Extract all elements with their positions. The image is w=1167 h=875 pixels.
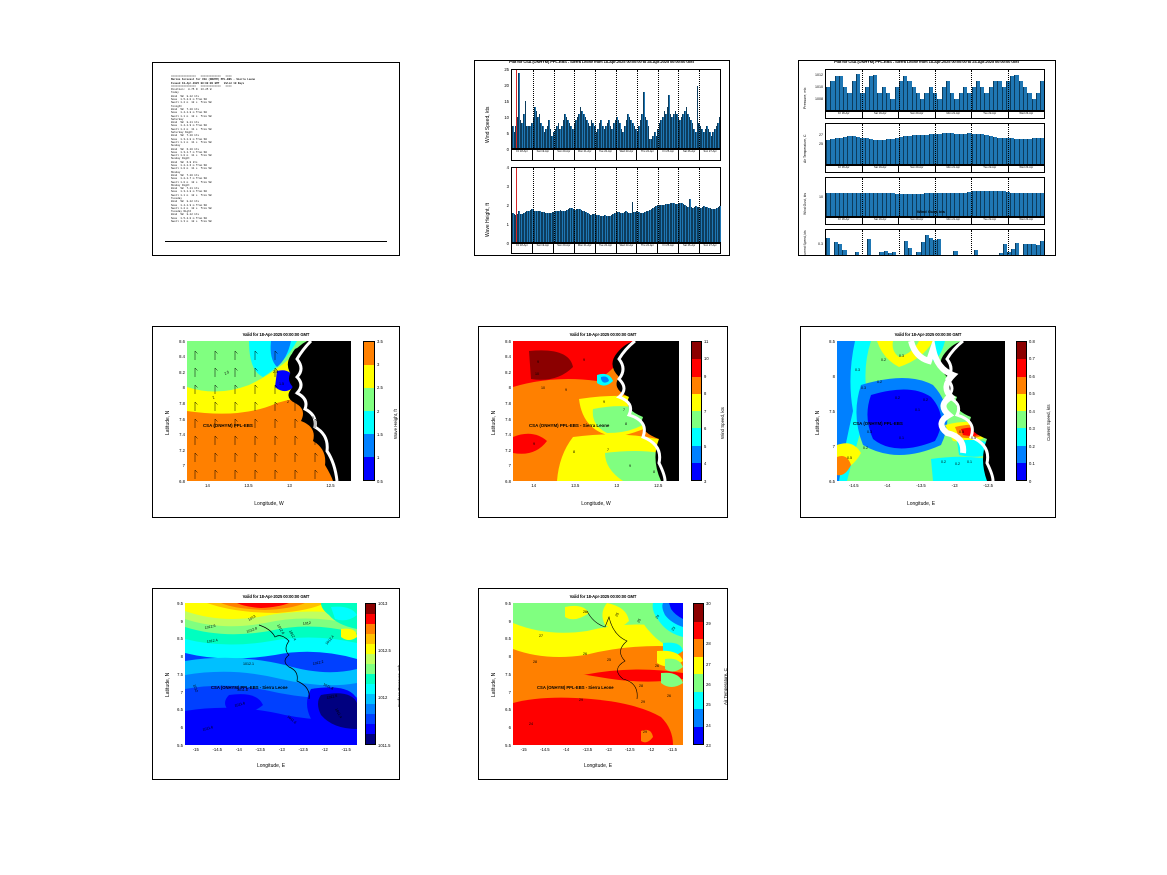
day-label: Tue 22-Apr	[972, 218, 1009, 224]
colorbar-segment	[694, 657, 703, 675]
gridline	[971, 124, 972, 164]
colorbar-segment	[366, 694, 375, 704]
svg-text:0.1: 0.1	[899, 436, 904, 440]
temperature-ylabel: Air Temperature, C	[803, 135, 807, 163]
colorbar-tick: 6	[704, 426, 706, 431]
svg-text:0.3: 0.3	[867, 430, 872, 434]
pressure-map-colorbar-label: Surface Pressure, mb	[397, 665, 400, 707]
colorbar-segment	[1017, 446, 1026, 463]
map-x-tick: 12.5	[648, 483, 668, 488]
svg-text:0.2: 0.2	[923, 398, 928, 402]
wind-map-title: Valid for 18-Apr-2025 00:00:00 GMT	[479, 332, 727, 337]
colorbar-tick: 1011.5	[378, 743, 391, 748]
current-speed-map-panel: Valid for 18-Apr-2025 00:00:00 GMT	[800, 326, 1056, 518]
y-tick: 27	[803, 133, 823, 137]
map-x-tick: -12.5	[293, 747, 313, 752]
svg-text:24: 24	[529, 722, 533, 726]
colorbar-segment	[1017, 342, 1026, 359]
map-x-tick: -11.5	[336, 747, 356, 752]
current-map-svg: 0.3 0.2 0.3 0.3 0.2 0.2 0.2 0.1 0.1 0.3 …	[837, 341, 1005, 481]
day-label: Fri 18-Apr	[512, 244, 533, 253]
gridline	[658, 168, 659, 242]
pressure-map-site-annotation: CSA (ONHYM) PPL-EBS - Sierra Leone	[211, 685, 288, 690]
temperature-axes	[825, 123, 1045, 165]
gridline	[899, 124, 900, 164]
svg-text:0.1: 0.1	[967, 460, 972, 464]
wind-map-site-annotation: CSA (ONHYM) PPL-EBS - Sierra Leone	[529, 423, 609, 428]
day-label: Wed 23-Apr	[1009, 218, 1045, 224]
map-y-tick: 8	[491, 654, 511, 659]
map-x-tick: 14	[198, 483, 218, 488]
gridline	[862, 230, 863, 256]
svg-text:0.3: 0.3	[855, 368, 860, 372]
map-y-tick: 9.5	[163, 601, 183, 606]
colorbar-segment	[692, 463, 701, 480]
colorbar-segment	[1017, 428, 1026, 445]
day-label: Sat 19-Apr	[533, 244, 554, 253]
day-label: Sat 19-Apr	[533, 150, 554, 160]
day-label: Tue 22-Apr	[972, 166, 1009, 172]
svg-text:8: 8	[653, 470, 655, 474]
svg-text:9: 9	[583, 358, 585, 362]
colorbar-segment	[366, 674, 375, 684]
colorbar-tick: 0.6	[1029, 374, 1035, 379]
report-divider	[165, 241, 387, 242]
svg-text:0.2: 0.2	[941, 460, 946, 464]
map-y-tick: 7	[163, 690, 183, 695]
gridline	[1008, 230, 1009, 256]
colorbar-segment	[366, 684, 375, 694]
pressure-axes	[825, 69, 1045, 111]
map-x-tick: -13	[945, 483, 965, 488]
day-label: Tue 22-Apr	[596, 150, 617, 160]
y-tick: 0.3	[803, 242, 823, 246]
svg-text:10: 10	[535, 372, 539, 376]
gridline	[1008, 124, 1009, 164]
gridline	[554, 70, 555, 148]
map-x-tick: -13	[599, 747, 619, 752]
bar	[953, 251, 957, 256]
map-x-tick: -12	[315, 747, 335, 752]
forecast-text-body: ================ ============= ====Marin…	[171, 75, 391, 223]
colorbar-tick: 2	[377, 409, 379, 414]
colorbar-segment	[692, 377, 701, 394]
current-map-ylabel: Latitude, N	[815, 411, 821, 435]
day-label: Wed 23-Apr	[1009, 166, 1045, 172]
day-label: Sun 20-Apr	[899, 166, 936, 172]
svg-text:7: 7	[607, 448, 609, 452]
gridline	[595, 168, 596, 242]
svg-text:0.5: 0.5	[847, 456, 852, 460]
map-y-tick: 7.6	[491, 417, 511, 422]
bar	[855, 252, 859, 256]
wind-speed-day-strip: Fri 18-AprSat 19-AprSun 20-AprMon 21-Apr…	[511, 149, 721, 161]
wind-map-xlabel: Longitude, W	[513, 501, 679, 507]
svg-text:0.2: 0.2	[877, 380, 882, 384]
svg-text:0.5: 0.5	[959, 430, 964, 434]
gridline	[971, 230, 972, 256]
map-x-tick: -14	[877, 483, 897, 488]
temperature-day-strip: Fri 18-AprSat 19-AprSun 20-AprMon 21-Apr…	[825, 165, 1045, 173]
day-label: Sun 20-Apr	[899, 112, 936, 118]
colorbar-tick: 0.5	[1029, 391, 1035, 396]
svg-text:26: 26	[583, 652, 587, 656]
svg-text:27: 27	[539, 634, 543, 638]
gridline	[533, 70, 534, 148]
wave-height-axes	[511, 167, 721, 243]
map-y-tick: 8.6	[491, 339, 511, 344]
map-y-tick: 9.5	[491, 601, 511, 606]
colorbar-tick: 8	[704, 391, 706, 396]
map-y-tick: 6.8	[491, 479, 511, 484]
colorbar-segment	[694, 674, 703, 692]
colorbar-tick: 29	[706, 621, 711, 626]
gridline	[616, 168, 617, 242]
wave-map-canvas: 2.5 2 2.5 1.5 2.5 2	[187, 341, 351, 481]
colorbar-segment	[692, 359, 701, 376]
temp-map-canvas: 27 26 25 25 24 23 28 26 25 26 28 26 29 2…	[513, 603, 683, 745]
wind-speed-axes	[511, 69, 721, 149]
bar	[912, 255, 916, 256]
svg-text:28: 28	[533, 660, 537, 664]
gridline	[637, 168, 638, 242]
map-y-tick: 8.2	[491, 370, 511, 375]
gridline	[899, 178, 900, 216]
map-x-tick: -14.5	[535, 747, 555, 752]
current-map-title: Valid for 18-Apr-2025 00:00:00 GMT	[801, 332, 1055, 337]
colorbar-segment	[1017, 359, 1026, 376]
day-label: Thu 24-Apr	[637, 150, 658, 160]
gridline	[595, 70, 596, 148]
map-y-tick: 7.2	[165, 448, 185, 453]
map-x-tick: -12.5	[978, 483, 998, 488]
colorbar-segment	[364, 434, 374, 457]
gridline	[533, 168, 534, 242]
map-y-tick: 7.5	[815, 409, 835, 414]
gridline	[971, 70, 972, 110]
svg-text:10: 10	[541, 386, 545, 390]
pressure-map-svg: 1012.6 1012.4 1013 1012.8 1012.6 1012.4 …	[185, 603, 357, 745]
map-y-tick: 8	[165, 385, 185, 390]
day-label: Mon 21-Apr	[936, 112, 973, 118]
day-label: Tue 22-Apr	[972, 112, 1009, 118]
gridline	[1008, 178, 1009, 216]
map-y-tick: 7.5	[491, 672, 511, 677]
pressure-map-colorbar	[365, 603, 376, 745]
gridline	[862, 70, 863, 110]
colorbar-tick: 0.1	[1029, 461, 1035, 466]
temp-map-title: Valid for 18-Apr-2025 00:00:00 GMT	[479, 594, 727, 599]
map-y-tick: 8.5	[163, 636, 183, 641]
svg-text:9: 9	[603, 400, 605, 404]
y-tick: 1	[489, 222, 509, 227]
colorbar-segment	[694, 727, 703, 745]
wind-map-canvas: 9 10 10 9 9 9 7 8 8 7 8 9 9 8	[513, 341, 679, 481]
svg-text:26: 26	[655, 664, 659, 668]
svg-text:8: 8	[625, 422, 627, 426]
wind-wave-timeseries-panel: Plot for CSA (ONHYM) PPL-EBS - Sierra Le…	[474, 60, 730, 256]
bar	[892, 252, 896, 256]
wind-wave-title: Plot for CSA (ONHYM) PPL-EBS - Sierra Le…	[475, 60, 729, 64]
map-y-tick: 8.4	[165, 354, 185, 359]
map-x-tick: -13	[272, 747, 292, 752]
bar	[719, 117, 721, 148]
colorbar-tick: 1.5	[377, 432, 383, 437]
colorbar-segment	[366, 644, 375, 654]
svg-text:0.5: 0.5	[971, 436, 976, 440]
map-y-tick: 6.5	[491, 707, 511, 712]
report-page: ================ ============= ====Marin…	[0, 0, 1167, 875]
bar	[1040, 193, 1044, 216]
colorbar-segment	[366, 704, 375, 714]
map-x-tick: 13	[607, 483, 627, 488]
gridline	[899, 70, 900, 110]
current-axes	[825, 229, 1045, 256]
svg-text:0.2: 0.2	[881, 358, 886, 362]
y-tick: 1010	[803, 85, 823, 89]
day-label: Fri 18-Apr	[826, 112, 863, 118]
gridline	[862, 124, 863, 164]
air-temperature-map-panel: Valid for 18-Apr-2025 00:00:00 GMT	[478, 588, 728, 780]
gust-day-strip: Fri 18-AprSat 19-AprSun 20-AprMon 21-Apr…	[825, 217, 1045, 225]
colorbar-segment	[366, 734, 375, 744]
colorbar-tick: 27	[706, 662, 711, 667]
colorbar-segment	[1017, 463, 1026, 480]
colorbar-segment	[1017, 411, 1026, 428]
svg-text:29: 29	[579, 698, 583, 702]
day-label: Sat 26-Apr	[679, 244, 700, 253]
map-x-tick: 12.5	[321, 483, 341, 488]
current-map-colorbar-label: Current Speed, kts	[1046, 404, 1051, 441]
gust-annotation: Wind Gust, kts	[917, 209, 945, 214]
y-tick: 3	[489, 184, 509, 189]
map-x-tick: 14	[524, 483, 544, 488]
map-y-tick: 8	[163, 654, 183, 659]
map-y-tick: 6	[163, 725, 183, 730]
map-x-tick: -13.5	[250, 747, 270, 752]
y-tick: 10	[489, 115, 509, 120]
wave-height-day-strip: Fri 18-AprSat 19-AprSun 20-AprMon 21-Apr…	[511, 243, 721, 254]
day-label: Tue 22-Apr	[596, 244, 617, 253]
colorbar-tick: 0.7	[1029, 356, 1035, 361]
colorbar-tick: 9	[704, 374, 706, 379]
colorbar-tick: 1	[377, 455, 379, 460]
svg-text:0.1: 0.1	[915, 408, 920, 412]
wind-now-marker	[516, 70, 517, 148]
y-tick: 10	[803, 195, 823, 199]
map-y-tick: 8	[815, 374, 835, 379]
gridline	[899, 230, 900, 256]
colorbar-tick: 10	[704, 356, 709, 361]
colorbar-segment	[366, 664, 375, 674]
wave-map-colorbar-label: Wave Height, ft	[393, 409, 398, 439]
wave-height-ylabel: Wave Height, ft	[485, 203, 491, 237]
temp-map-xlabel: Longitude, E	[513, 763, 683, 769]
map-y-tick: 8.4	[491, 354, 511, 359]
svg-text:1.5: 1.5	[279, 382, 284, 386]
svg-text:8: 8	[645, 422, 647, 426]
map-x-tick: -13.5	[577, 747, 597, 752]
report-line: Swell 1.3 m 12 s from SW	[171, 220, 391, 223]
colorbar-tick: 1012	[378, 695, 387, 700]
map-y-tick: 9	[163, 619, 183, 624]
map-y-tick: 5.5	[491, 743, 511, 748]
colorbar-segment	[1017, 394, 1026, 411]
map-y-tick: 7.5	[163, 672, 183, 677]
colorbar-segment	[366, 714, 375, 724]
wave-height-map-panel: Valid for 18-Apr-2025 00:00:00 GMT 2.5 2	[152, 326, 400, 518]
day-label: Wed 23-Apr	[617, 150, 638, 160]
wave-map-xlabel: Longitude, W	[187, 501, 351, 507]
bar	[1015, 243, 1019, 256]
map-y-tick: 6.5	[815, 479, 835, 484]
colorbar-tick: 4	[704, 461, 706, 466]
map-y-tick: 8	[491, 385, 511, 390]
gridline	[935, 230, 936, 256]
colorbar-segment	[694, 709, 703, 727]
map-y-tick: 8.6	[165, 339, 185, 344]
colorbar-tick: 11	[704, 339, 708, 344]
bar	[937, 239, 941, 256]
y-tick: 25	[489, 67, 509, 72]
colorbar-tick: 23	[706, 743, 711, 748]
colorbar-segment	[366, 624, 375, 634]
svg-text:2.5: 2.5	[309, 416, 314, 420]
svg-text:26: 26	[667, 694, 671, 698]
map-x-tick: -12	[641, 747, 661, 752]
colorbar-tick: 0.3	[1029, 426, 1035, 431]
map-x-tick: -14	[229, 747, 249, 752]
map-y-tick: 7	[815, 444, 835, 449]
map-y-tick: 7.2	[491, 448, 511, 453]
svg-text:29: 29	[643, 730, 647, 734]
gridline	[678, 70, 679, 148]
day-label: Sun 20-Apr	[899, 218, 936, 224]
day-label: Fri 18-Apr	[826, 166, 863, 172]
map-y-tick: 7.8	[165, 401, 185, 406]
colorbar-segment	[366, 614, 375, 624]
colorbar-tick: 1012.5	[378, 648, 391, 653]
map-x-tick: -14.5	[844, 483, 864, 488]
map-y-tick: 7	[491, 463, 511, 468]
bar	[867, 239, 871, 256]
colorbar-segment	[1017, 377, 1026, 394]
gridline	[554, 168, 555, 242]
svg-text:0.2: 0.2	[863, 446, 868, 450]
day-label: Wed 23-Apr	[617, 244, 638, 253]
wave-map-svg: 2.5 2 2.5 1.5 2.5 2	[187, 341, 351, 481]
day-label: Mon 21-Apr	[575, 150, 596, 160]
temp-map-colorbar	[693, 603, 704, 745]
colorbar-segment	[364, 365, 374, 388]
svg-text:7: 7	[623, 408, 625, 412]
svg-text:9: 9	[565, 388, 567, 392]
pressure-day-strip: Fri 18-AprSat 19-AprSun 20-AprMon 21-Apr…	[825, 111, 1045, 119]
pressure-map-canvas: 1012.6 1012.4 1013 1012.8 1012.6 1012.4 …	[185, 603, 357, 745]
y-tick: 25	[803, 142, 823, 146]
svg-text:26: 26	[583, 610, 587, 614]
colorbar-segment	[366, 654, 375, 664]
svg-text:25: 25	[607, 658, 611, 662]
map-x-tick: -15	[514, 747, 534, 752]
pressure-map-xlabel: Longitude, E	[185, 763, 357, 769]
bar	[1040, 241, 1044, 256]
day-label: Sat 19-Apr	[863, 112, 900, 118]
colorbar-segment	[366, 634, 375, 644]
map-x-tick: -14	[556, 747, 576, 752]
colorbar-tick: 30	[706, 601, 711, 606]
colorbar-tick: 3.5	[377, 339, 383, 344]
map-y-tick: 7.8	[491, 401, 511, 406]
colorbar-segment	[694, 639, 703, 657]
colorbar-tick: 0	[1029, 479, 1031, 484]
day-label: Thu 24-Apr	[637, 244, 658, 253]
map-y-tick: 7	[165, 463, 185, 468]
bar	[974, 250, 978, 256]
temp-map-colorbar-label: Air Temperature, C	[723, 668, 728, 705]
y-tick: 2	[489, 203, 509, 208]
svg-text:1012.1: 1012.1	[243, 662, 254, 666]
map-y-tick: 6.5	[163, 707, 183, 712]
map-y-tick: 8.5	[815, 339, 835, 344]
svg-text:2: 2	[287, 400, 289, 404]
day-label: Sun 20-Apr	[554, 150, 575, 160]
wind-map-colorbar	[691, 341, 702, 481]
wave-now-marker	[516, 168, 517, 242]
wave-map-title: Valid for 18-Apr-2025 00:00:00 GMT	[153, 332, 399, 337]
current-map-site-annotation: CSA (ONHYM) PPL-EBS	[853, 421, 903, 426]
map-x-tick: 13	[280, 483, 300, 488]
map-y-tick: 8.5	[491, 636, 511, 641]
colorbar-segment	[694, 622, 703, 640]
current-map-xlabel: Longitude, E	[837, 501, 1005, 507]
svg-text:0.3: 0.3	[861, 386, 866, 390]
gridline	[935, 124, 936, 164]
gridline	[935, 70, 936, 110]
bar	[847, 255, 851, 256]
bar	[842, 250, 846, 256]
day-label: Sun 20-Apr	[554, 244, 575, 253]
gridline	[574, 168, 575, 242]
map-y-tick: 7.4	[491, 432, 511, 437]
colorbar-segment	[692, 446, 701, 463]
svg-text:28: 28	[639, 684, 643, 688]
surface-pressure-map-panel: Valid for 18-Apr-2025 00:00:00 GMT	[152, 588, 400, 780]
y-tick: 0	[489, 241, 509, 246]
day-label: Sun 27-Apr	[700, 244, 720, 253]
map-y-tick: 7	[491, 690, 511, 695]
gridline	[1008, 70, 1009, 110]
wave-map-colorbar	[363, 341, 375, 481]
gridline	[699, 70, 700, 148]
map-x-tick: -15	[186, 747, 206, 752]
day-label: Sat 19-Apr	[863, 166, 900, 172]
svg-text:8: 8	[573, 450, 575, 454]
wind-speed-map-panel: Valid for 18-Apr-2025 00:00:00 GMT 9 10	[478, 326, 728, 518]
temp-map-svg: 27 26 25 25 24 23 28 26 25 26 28 26 29 2…	[513, 603, 683, 745]
colorbar-tick: 0.8	[1029, 339, 1035, 344]
wind-map-colorbar-label: Wind Speed, kts	[720, 407, 725, 439]
gridline	[678, 168, 679, 242]
y-tick: 15	[489, 99, 509, 104]
map-x-tick: 13.5	[565, 483, 585, 488]
colorbar-segment	[366, 604, 375, 614]
map-x-tick: 13.5	[239, 483, 259, 488]
svg-text:9: 9	[537, 360, 539, 364]
pressure-map-title: Valid for 18-Apr-2025 00:00:00 GMT	[153, 594, 399, 599]
wave-map-site-annotation: CSA (ONHYM) PPL-EBS	[203, 423, 253, 428]
day-label: Sun 27-Apr	[700, 150, 720, 160]
